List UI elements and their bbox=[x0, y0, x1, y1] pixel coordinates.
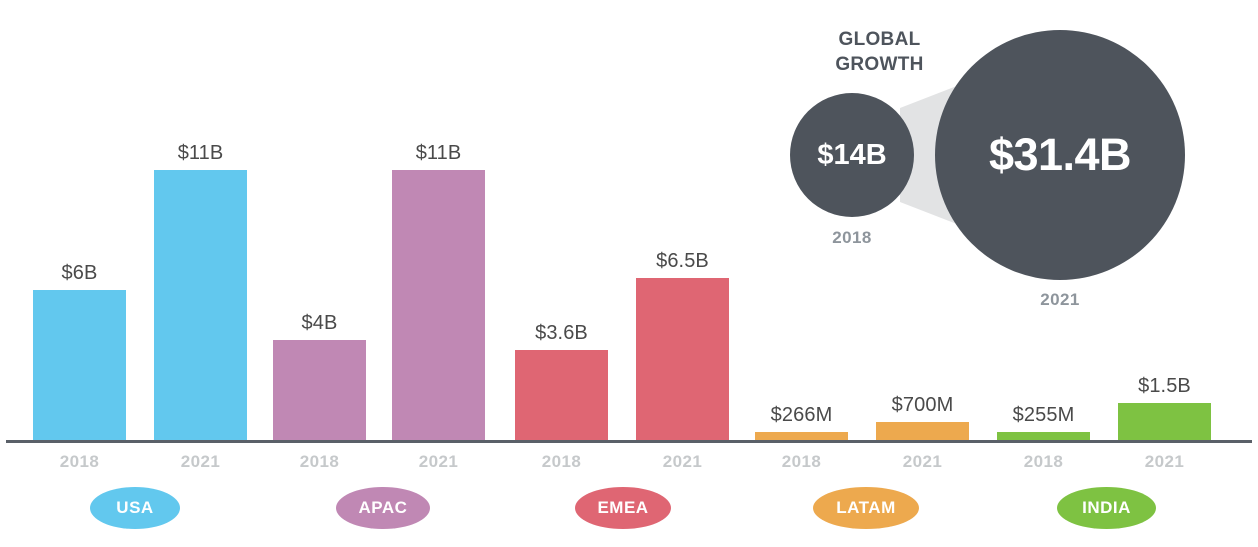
bar-india-2018 bbox=[997, 432, 1090, 440]
bar-value-india-2018: $255M bbox=[972, 404, 1115, 427]
region-pill-latam[interactable]: LATAM bbox=[813, 487, 919, 529]
bar-apac-2018 bbox=[273, 340, 366, 440]
regional-growth-chart: $6B$11B$4B$11B$3.6B$6.5B$266M$700M$255M$… bbox=[0, 0, 1258, 547]
year-label-usa-2018: 2018 bbox=[33, 452, 126, 472]
year-label-usa-2021: 2021 bbox=[154, 452, 247, 472]
bar-emea-2021 bbox=[636, 278, 729, 440]
region-pill-usa[interactable]: USA bbox=[90, 487, 180, 529]
bubble-2021: $31.4B bbox=[935, 30, 1185, 280]
global-growth-group: GLOBAL GROWTH $14B $31.4B 2018 2021 bbox=[770, 0, 1258, 330]
bar-latam-2021 bbox=[876, 422, 969, 440]
region-pill-apac[interactable]: APAC bbox=[336, 487, 430, 529]
global-growth-title-line1: GLOBAL bbox=[838, 29, 920, 50]
year-label-apac-2021: 2021 bbox=[392, 452, 485, 472]
bubble-year-label-2021: 2021 bbox=[935, 290, 1185, 310]
year-label-emea-2021: 2021 bbox=[636, 452, 729, 472]
bar-apac-2021 bbox=[392, 170, 485, 440]
year-label-apac-2018: 2018 bbox=[273, 452, 366, 472]
bar-value-emea-2021: $6.5B bbox=[611, 250, 754, 273]
bar-latam-2018 bbox=[755, 432, 848, 440]
year-label-latam-2021: 2021 bbox=[876, 452, 969, 472]
region-pill-emea[interactable]: EMEA bbox=[575, 487, 671, 529]
x-axis-line bbox=[6, 440, 1252, 443]
year-label-latam-2018: 2018 bbox=[755, 452, 848, 472]
year-label-emea-2018: 2018 bbox=[515, 452, 608, 472]
bubble-year-label-2018: 2018 bbox=[790, 228, 914, 248]
bar-usa-2021 bbox=[154, 170, 247, 440]
bar-value-usa-2018: $6B bbox=[8, 262, 151, 285]
global-growth-title-line2: GROWTH bbox=[835, 54, 923, 75]
bar-emea-2018 bbox=[515, 350, 608, 440]
bar-value-india-2021: $1.5B bbox=[1093, 375, 1236, 398]
bar-value-apac-2021: $11B bbox=[367, 142, 510, 165]
bar-usa-2018 bbox=[33, 290, 126, 440]
global-growth-title: GLOBAL GROWTH bbox=[792, 27, 967, 77]
bar-value-usa-2021: $11B bbox=[129, 142, 272, 165]
bar-india-2021 bbox=[1118, 403, 1211, 440]
bar-value-emea-2018: $3.6B bbox=[490, 322, 633, 345]
bar-value-apac-2018: $4B bbox=[248, 312, 391, 335]
year-label-india-2018: 2018 bbox=[997, 452, 1090, 472]
year-label-india-2021: 2021 bbox=[1118, 452, 1211, 472]
region-pill-india[interactable]: INDIA bbox=[1057, 487, 1156, 529]
bubble-2018: $14B bbox=[790, 93, 914, 217]
